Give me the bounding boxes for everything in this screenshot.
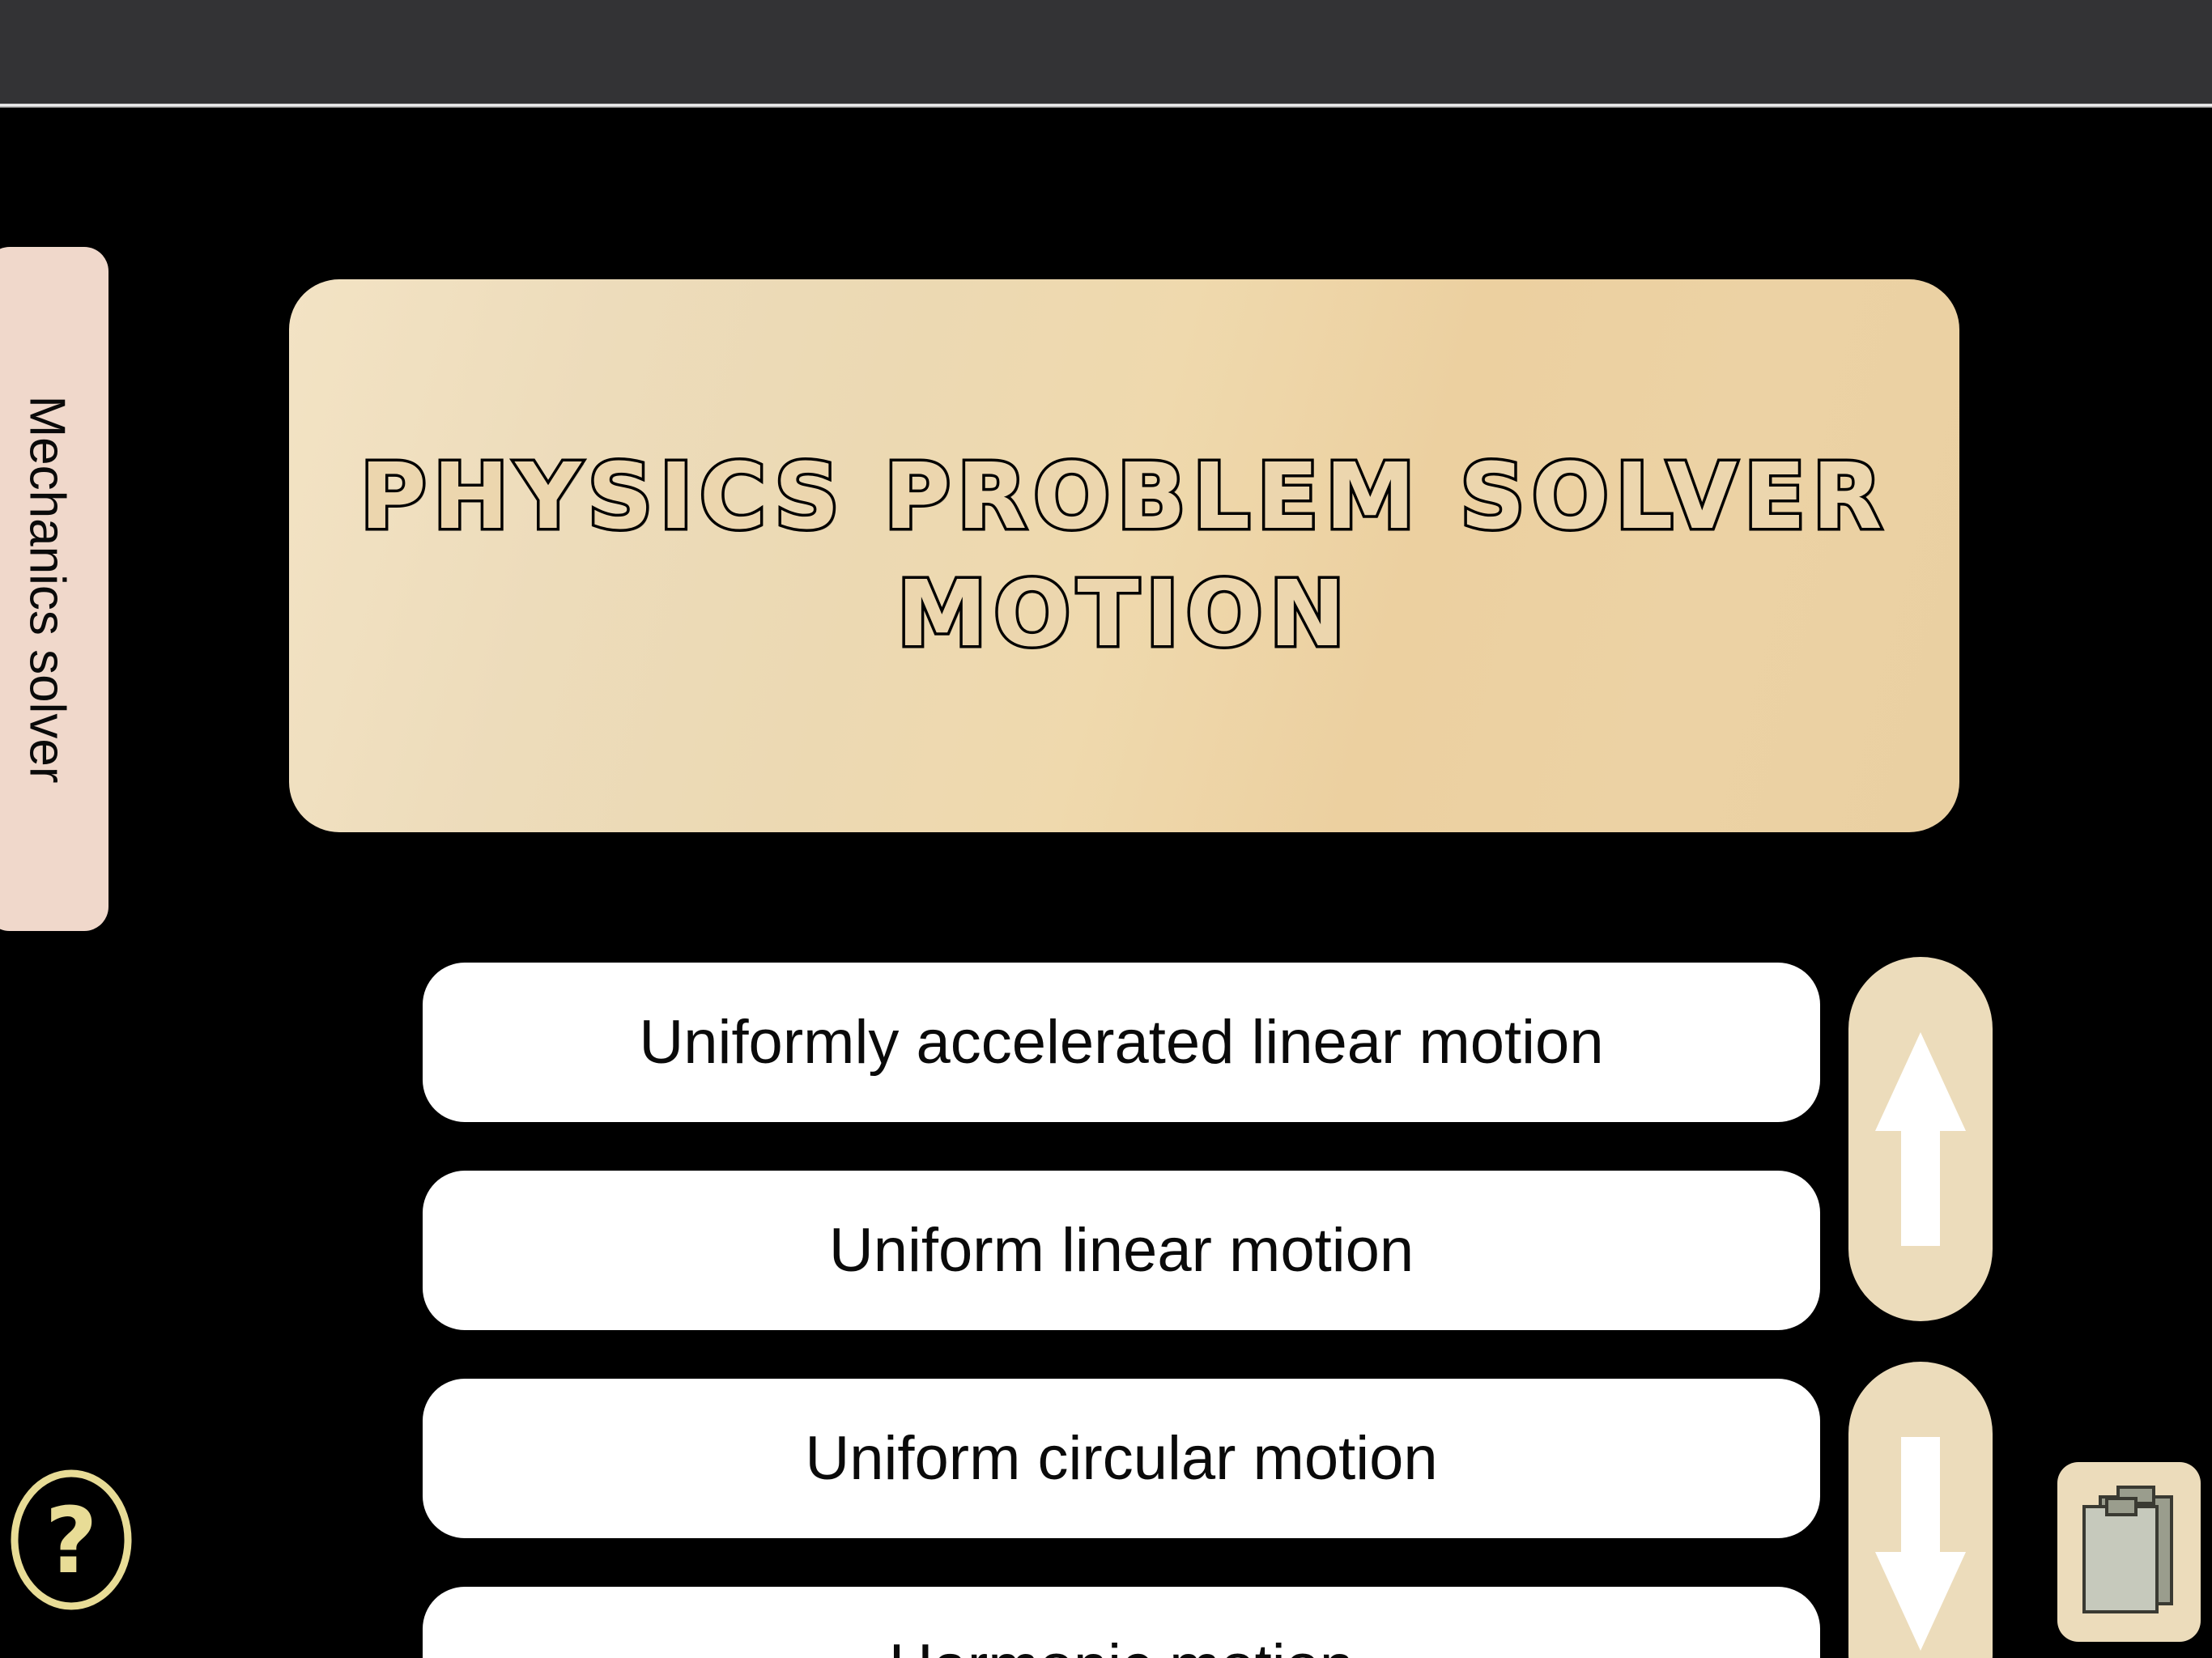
option-label: Uniformly accelerated linear motion [639,1007,1603,1078]
sidebar-tab-label: Mechanics solver [19,395,76,783]
sidebar-tab-mechanics-solver[interactable]: Mechanics solver [0,247,108,931]
notes-clipboard-button[interactable] [2057,1462,2201,1642]
scroll-down-button[interactable] [1848,1362,1993,1658]
motion-topic-list: Uniformly accelerated linear motion Unif… [423,963,1820,1658]
option-button-uniform-linear-motion[interactable]: Uniform linear motion [423,1171,1820,1330]
question-mark-icon: ? [6,1465,136,1615]
option-button-uniform-circular-motion[interactable]: Uniform circular motion [423,1379,1820,1538]
help-button[interactable]: ? [6,1465,136,1615]
banner-title-line-2: MOTION [897,567,1352,663]
svg-text:?: ? [45,1489,98,1594]
clipboard-icon [2076,1482,2183,1622]
banner-title-line-1: PHYSICS PROBLEM SOLVER [360,449,1889,546]
option-button-uniformly-accelerated-linear-motion[interactable]: Uniformly accelerated linear motion [423,963,1820,1122]
arrow-up-icon [1872,1018,1969,1261]
title-banner: PHYSICS PROBLEM SOLVER MOTION [289,279,1959,832]
app-stage: Mechanics solver PHYSICS PROBLEM SOLVER … [0,108,2212,1658]
system-top-bar [0,0,2212,104]
option-label: Uniform circular motion [805,1423,1437,1494]
option-label: Uniform linear motion [829,1215,1414,1286]
arrow-down-icon [1872,1422,1969,1658]
scroll-up-button[interactable] [1848,957,1993,1321]
option-button-harmonic-motion[interactable]: Harmonic motion [423,1587,1820,1658]
option-label: Harmonic motion [889,1631,1354,1658]
